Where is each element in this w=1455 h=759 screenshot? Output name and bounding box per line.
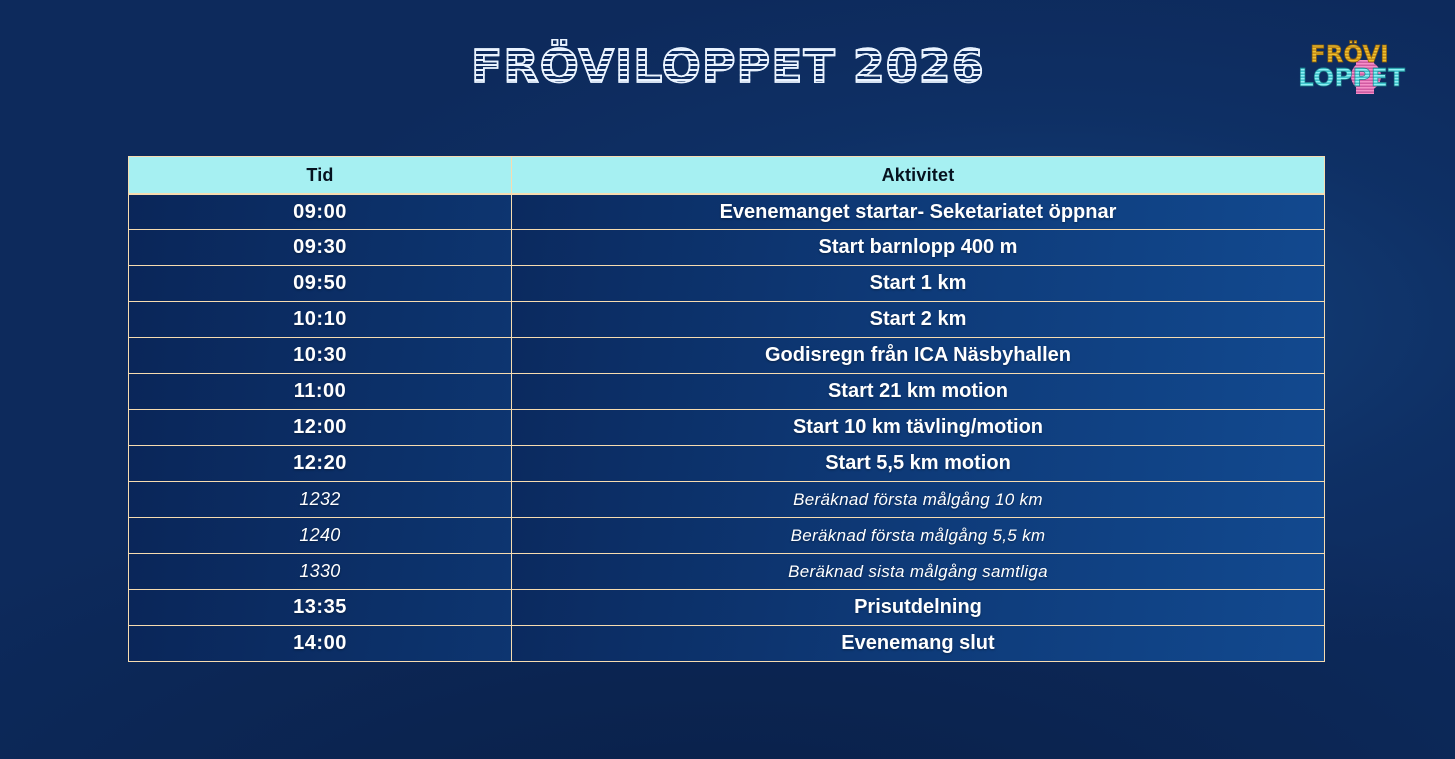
- schedule-table: Tid Aktivitet 09:00Evenemanget startar- …: [128, 156, 1325, 662]
- table-row: 1240Beräknad första målgång 5,5 km: [128, 518, 1325, 554]
- table-row: 10:10Start 2 km: [128, 302, 1325, 338]
- cell-time: 11:00: [128, 374, 512, 410]
- cell-time: 09:50: [128, 266, 512, 302]
- cell-time: 1330: [128, 554, 512, 590]
- cell-time: 14:00: [128, 626, 512, 662]
- cell-time: 09:00: [128, 194, 512, 230]
- cell-time: 12:20: [128, 446, 512, 482]
- column-header-time: Tid: [128, 156, 512, 194]
- table-row: 11:00Start 21 km motion: [128, 374, 1325, 410]
- cell-activity: Beräknad första målgång 5,5 km: [512, 518, 1325, 554]
- cell-time: 10:30: [128, 338, 512, 374]
- cell-activity: Prisutdelning: [512, 590, 1325, 626]
- table-row: 1330Beräknad sista målgång samtliga: [128, 554, 1325, 590]
- cell-activity: Beräknad sista målgång samtliga: [512, 554, 1325, 590]
- cell-time: 10:10: [128, 302, 512, 338]
- page-title-container: Fröviloppet 2026 Fröviloppet 2026: [0, 44, 1455, 89]
- table-header-row: Tid Aktivitet: [128, 156, 1325, 194]
- cell-time: 1240: [128, 518, 512, 554]
- schedule-table-container: Tid Aktivitet 09:00Evenemanget startar- …: [128, 156, 1325, 662]
- cell-activity: Evenemanget startar- Seketariatet öppnar: [512, 194, 1325, 230]
- event-logo-svg: FRÖVI LOPPET: [1296, 36, 1424, 100]
- table-row: 1232Beräknad första målgång 10 km: [128, 482, 1325, 518]
- schedule-table-body: 09:00Evenemanget startar- Seketariatet ö…: [128, 194, 1325, 662]
- event-logo[interactable]: FRÖVI LOPPET: [1296, 36, 1424, 100]
- cell-activity: Start 2 km: [512, 302, 1325, 338]
- table-row: 14:00Evenemang slut: [128, 626, 1325, 662]
- page-title-text: Fröviloppet 2026: [471, 40, 985, 93]
- slide-canvas: Fröviloppet 2026 Fröviloppet 2026: [0, 0, 1455, 759]
- table-row: 09:00Evenemanget startar- Seketariatet ö…: [128, 194, 1325, 230]
- cell-time: 1232: [128, 482, 512, 518]
- table-row: 10:30Godisregn från ICA Näsbyhallen: [128, 338, 1325, 374]
- table-row: 12:20Start 5,5 km motion: [128, 446, 1325, 482]
- cell-activity: Start 5,5 km motion: [512, 446, 1325, 482]
- table-row: 09:30Start barnlopp 400 m: [128, 230, 1325, 266]
- table-row: 13:35Prisutdelning: [128, 590, 1325, 626]
- table-row: 09:50Start 1 km: [128, 266, 1325, 302]
- cell-activity: Godisregn från ICA Näsbyhallen: [512, 338, 1325, 374]
- schedule-table-head: Tid Aktivitet: [128, 156, 1325, 194]
- cell-activity: Start 21 km motion: [512, 374, 1325, 410]
- column-header-activity: Aktivitet: [512, 156, 1325, 194]
- logo-line2-text: LOPPET: [1298, 63, 1405, 92]
- cell-activity: Start 10 km tävling/motion: [512, 410, 1325, 446]
- cell-activity: Evenemang slut: [512, 626, 1325, 662]
- cell-time: 09:30: [128, 230, 512, 266]
- page-title: Fröviloppet 2026 Fröviloppet 2026: [471, 44, 985, 89]
- cell-activity: Start 1 km: [512, 266, 1325, 302]
- cell-activity: Beräknad första målgång 10 km: [512, 482, 1325, 518]
- table-row: 12:00Start 10 km tävling/motion: [128, 410, 1325, 446]
- cell-activity: Start barnlopp 400 m: [512, 230, 1325, 266]
- cell-time: 13:35: [128, 590, 512, 626]
- cell-time: 12:00: [128, 410, 512, 446]
